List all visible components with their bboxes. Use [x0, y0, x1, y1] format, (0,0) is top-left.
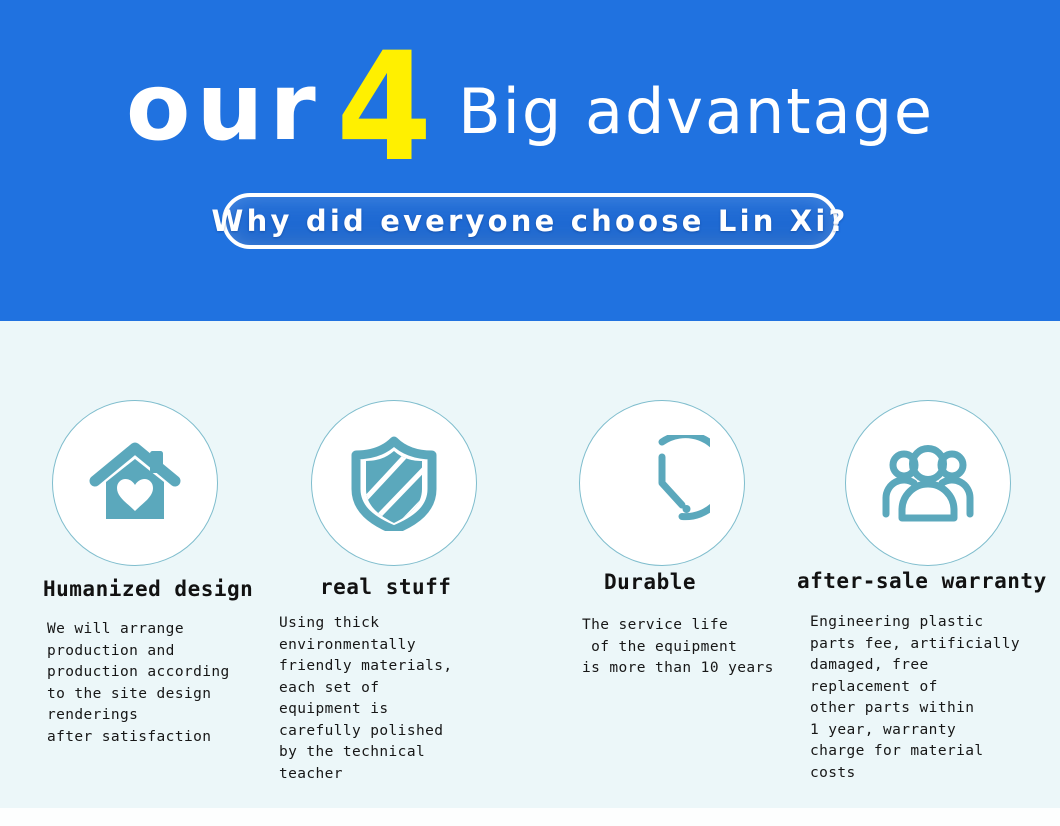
headline-lead: our — [126, 61, 322, 155]
feature-item: after-sale warranty Engineering plastic … — [795, 321, 1060, 826]
feature-body: Engineering plastic parts fee, artificia… — [810, 612, 1020, 784]
feature-body: Using thick environmentally friendly mat… — [279, 613, 452, 785]
headline-number: 4 — [336, 33, 432, 183]
features-list: Humanized design We will arrange product… — [0, 321, 1060, 826]
house-heart-icon — [87, 437, 183, 529]
people-group-icon — [874, 440, 982, 526]
feature-body: The service life of the equipment is mor… — [582, 615, 774, 680]
clock-icon — [614, 435, 710, 531]
feature-body: We will arrange production and productio… — [47, 619, 230, 748]
subtitle-pill: Why did everyone choose Lin Xi? — [222, 193, 838, 249]
feature-item: Humanized design We will arrange product… — [2, 321, 267, 826]
headline-rest: Big advantage — [458, 81, 934, 143]
feature-icon-circle — [579, 400, 745, 566]
subtitle-text: Why did everyone choose Lin Xi? — [211, 204, 848, 238]
feature-item: real stuff Using thick environmentally f… — [261, 321, 526, 826]
hero-banner: our 4 Big advantage Why did everyone cho… — [0, 0, 1060, 321]
page-title: our 4 Big advantage — [0, 32, 1060, 172]
advantages-banner-page: our 4 Big advantage Why did everyone cho… — [0, 0, 1060, 826]
feature-icon-circle — [845, 400, 1011, 566]
feature-icon-circle — [311, 400, 477, 566]
feature-item: Durable The service life of the equipmen… — [529, 321, 794, 826]
shield-icon — [350, 435, 438, 531]
feature-title: after-sale warranty — [797, 571, 1060, 592]
feature-icon-circle — [52, 400, 218, 566]
